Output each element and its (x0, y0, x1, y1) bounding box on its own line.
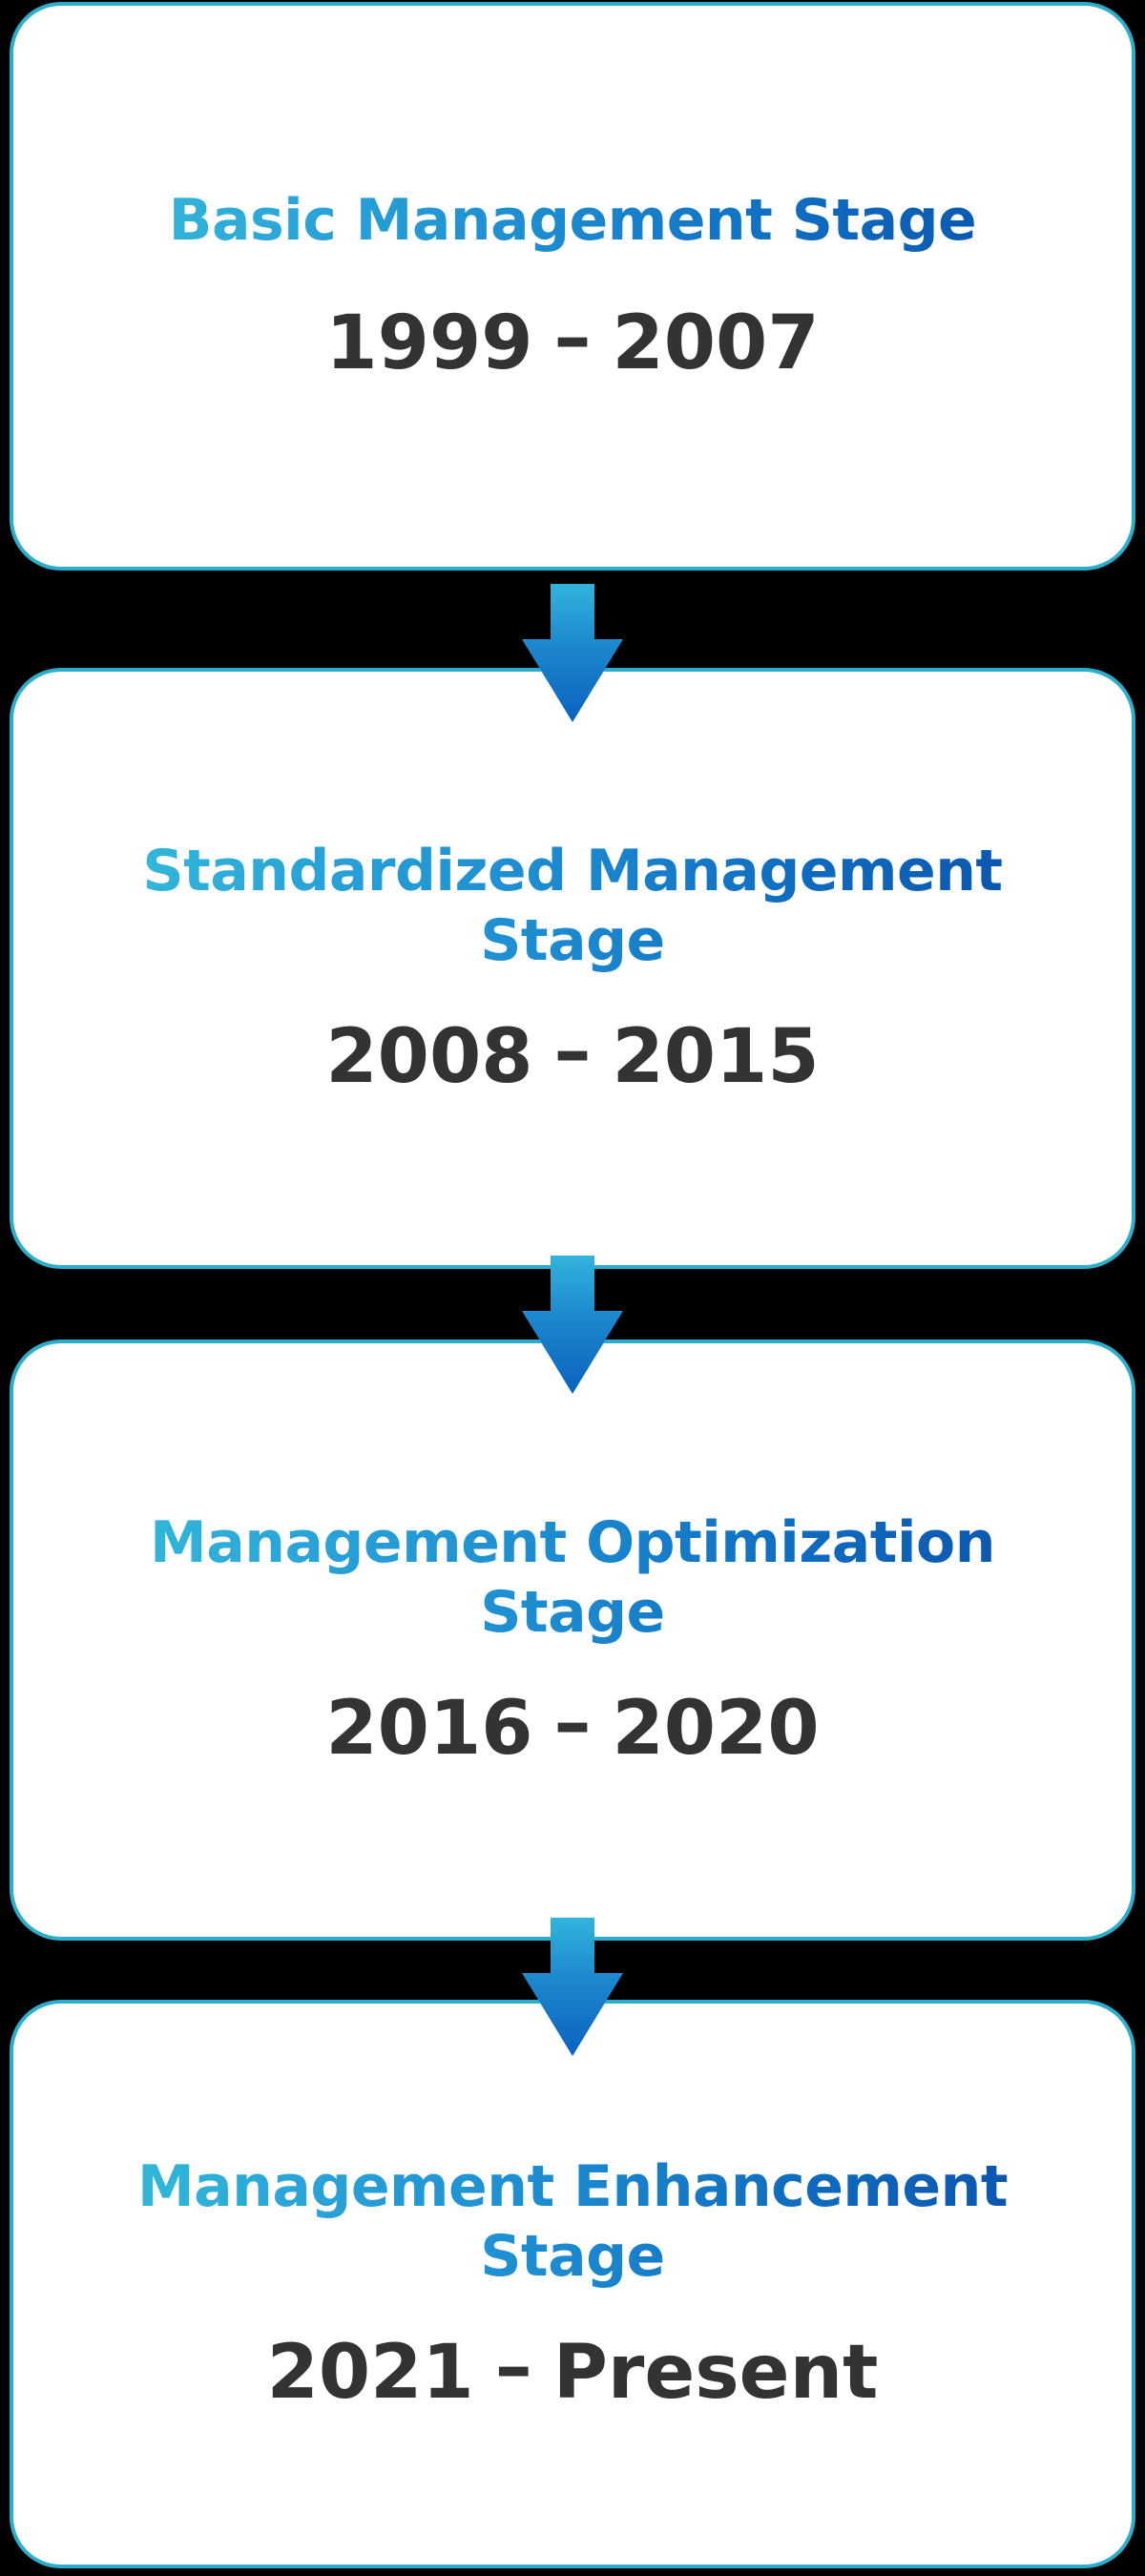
down-arrow-icon (516, 1918, 629, 2056)
stage-start-year: 2016 (325, 1686, 532, 1772)
stage-card-content: Standardized Management Stage 2008 – 201… (13, 837, 1132, 1100)
stage-range-dash: – (495, 2330, 532, 2404)
stage-end-year: 2007 (613, 301, 820, 386)
stage-card-2[interactable]: Standardized Management Stage 2008 – 201… (10, 668, 1135, 1269)
stage-end-year: 2020 (613, 1686, 820, 1772)
stage-start-year: 2021 (267, 2330, 474, 2416)
stage-year-range: 2016 – 2020 (325, 1686, 819, 1772)
down-arrow-icon (516, 584, 629, 722)
stage-title: Management Enhancement Stage (58, 2152, 1087, 2292)
stage-year-range: 2021 – Present (267, 2330, 879, 2416)
stage-end-year: 2015 (613, 1014, 820, 1100)
stage-card-content: Management Enhancement Stage 2021 – Pres… (13, 2152, 1132, 2416)
stage-start-year: 1999 (325, 301, 532, 386)
stage-title: Standardized Management Stage (58, 837, 1087, 976)
stage-end-year: Present (553, 2330, 879, 2416)
stage-card-3[interactable]: Management Optimization Stage 2016 – 202… (10, 1340, 1135, 1941)
stage-card-content: Management Optimization Stage 2016 – 202… (13, 1508, 1132, 1772)
down-arrow-icon (516, 1256, 629, 1394)
stage-year-range: 1999 – 2007 (325, 301, 819, 386)
stage-range-dash: – (554, 301, 592, 375)
stage-card-1[interactable]: Basic Management Stage 1999 – 2007 (10, 2, 1135, 571)
stage-start-year: 2008 (325, 1014, 532, 1100)
stage-title: Basic Management Stage (58, 186, 1087, 256)
stage-card-4[interactable]: Management Enhancement Stage 2021 – Pres… (10, 2000, 1135, 2568)
stage-range-dash: – (554, 1014, 592, 1089)
stage-year-range: 2008 – 2015 (325, 1014, 819, 1100)
stage-timeline-diagram: Basic Management Stage 1999 – 2007 Stand… (0, 0, 1145, 2576)
stage-card-content: Basic Management Stage 1999 – 2007 (13, 186, 1132, 385)
stage-title: Management Optimization Stage (58, 1508, 1087, 1648)
stage-range-dash: – (554, 1686, 592, 1760)
